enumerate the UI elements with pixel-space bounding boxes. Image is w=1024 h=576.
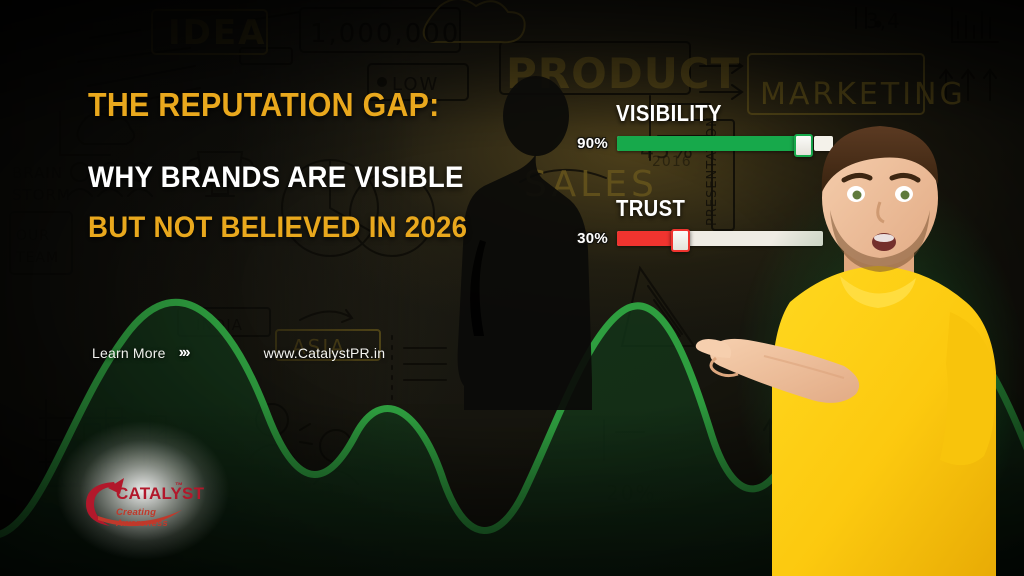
presenter-photo <box>694 106 1024 576</box>
logo-wordmark: CATALYST <box>116 484 204 504</box>
cta-row[interactable]: Learn More ››› www.CatalystPR.in <box>92 344 385 362</box>
learn-more-label[interactable]: Learn More <box>92 345 166 361</box>
trademark-icon: ™ <box>175 481 183 490</box>
headline-block: THE REPUTATION GAP: WHY BRANDS ARE VISIB… <box>88 88 518 243</box>
slider-fill <box>617 231 679 246</box>
headline-line-1: THE REPUTATION GAP: <box>88 88 484 121</box>
logo-tagline: Creating Awareness <box>116 507 198 529</box>
promo-banner: IDEA 1,000,000 LOW BRAIN STORM OUR TEAM … <box>0 0 1024 576</box>
chevron-right-triple-icon: ››› <box>179 344 189 362</box>
metric-percent: 30% <box>568 230 608 247</box>
slider-knob[interactable] <box>671 229 690 252</box>
website-url-link[interactable]: www.CatalystPR.in <box>264 345 386 361</box>
catalyst-logo[interactable]: CATALYST ™ Creating Awareness <box>80 472 198 534</box>
svg-text:3,4: 3,4 <box>866 9 901 33</box>
headline-line-3: BUT NOT BELIEVED IN 2026 <box>88 213 484 243</box>
metric-percent: 90% <box>568 135 608 152</box>
headline-line-2: WHY BRANDS ARE VISIBLE <box>88 163 484 193</box>
